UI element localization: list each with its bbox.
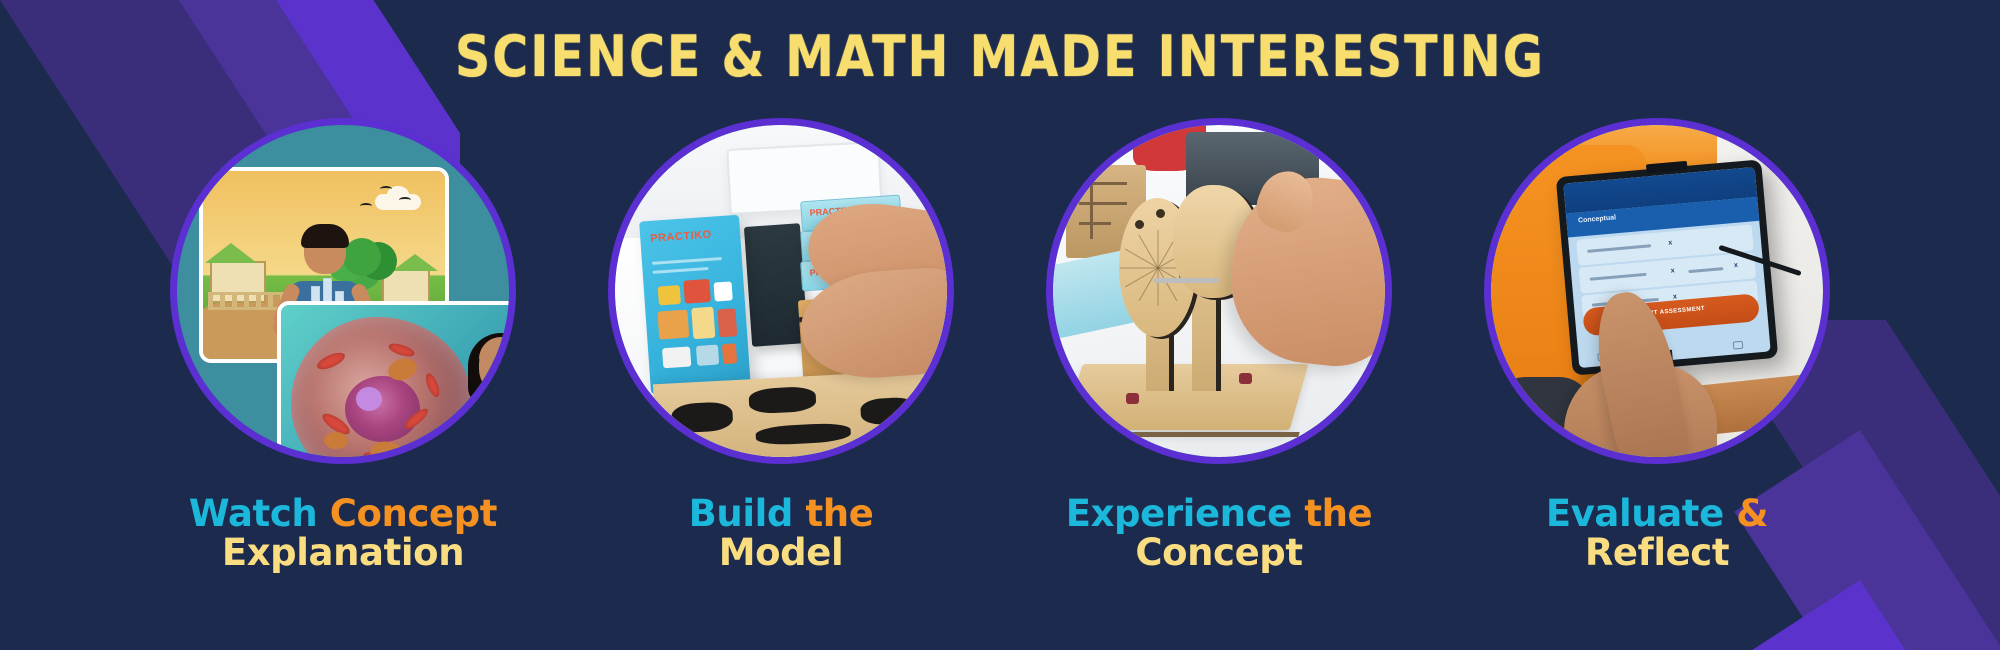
laser-cut-plywood-sheet bbox=[653, 370, 936, 457]
page-title: SCIENCE & MATH MADE INTERESTING bbox=[0, 24, 2000, 90]
step-label-1-part2: Concept bbox=[330, 492, 497, 535]
tablet-stand-dark bbox=[744, 223, 809, 346]
step-label-4-part1: Evaluate bbox=[1546, 492, 1724, 535]
app-title: Conceptual bbox=[1578, 215, 1617, 225]
step-label-2-part1: Build bbox=[689, 492, 793, 535]
metal-axle bbox=[1153, 278, 1219, 283]
step-label-3-part2: the bbox=[1304, 492, 1372, 535]
settings-nav-icon[interactable] bbox=[1733, 340, 1744, 349]
step-label-3: Experience the Concept bbox=[1066, 494, 1373, 572]
step-label-2: Build the Model bbox=[689, 494, 874, 572]
step-image-circle-2: PRACTIKO PRACTIKO PRACTIKO PRACTIKO bbox=[608, 118, 954, 464]
steps-row: Watch Concept Explanation PRACTIKO PRACT… bbox=[0, 118, 2000, 572]
step-item-evaluate-and-reflect[interactable]: Conceptual x x x bbox=[1482, 118, 1832, 572]
step-label-4: Evaluate & Reflect bbox=[1546, 494, 1768, 572]
product-box-front: PRACTIKO bbox=[639, 215, 750, 394]
step-label-1: Watch Concept Explanation bbox=[189, 494, 497, 572]
step-item-build-the-model[interactable]: PRACTIKO PRACTIKO PRACTIKO PRACTIKO bbox=[606, 118, 956, 572]
step-image-circle-3 bbox=[1046, 118, 1392, 464]
step-item-watch-concept-explanation[interactable]: Watch Concept Explanation bbox=[168, 118, 518, 572]
step-label-3-part1: Experience bbox=[1066, 492, 1292, 535]
step-label-4-part3: Reflect bbox=[1585, 531, 1729, 574]
peg-left bbox=[1126, 393, 1139, 404]
step-image-circle-4: Conceptual x x x bbox=[1484, 118, 1830, 464]
peg-right bbox=[1239, 373, 1252, 384]
step-label-1-part3: Explanation bbox=[222, 531, 464, 574]
animal-cell-illustration bbox=[291, 317, 469, 457]
step-label-3-part3: Concept bbox=[1135, 531, 1302, 574]
presenter-figure bbox=[454, 333, 509, 457]
step-image-circle-1 bbox=[170, 118, 516, 464]
step-label-4-part2: & bbox=[1736, 492, 1768, 535]
step-label-2-part2: the bbox=[805, 492, 873, 535]
step-label-2-part3: Model bbox=[719, 531, 844, 574]
stripe-band-6 bbox=[1734, 580, 2000, 650]
step-label-1-part1: Watch bbox=[189, 492, 317, 535]
step-item-experience-the-concept[interactable]: Experience the Concept bbox=[1044, 118, 1394, 572]
tablet-camera-icon bbox=[1646, 161, 1688, 174]
wooden-base-plate bbox=[1063, 364, 1308, 430]
video-thumbnail-cell-biology bbox=[277, 301, 509, 457]
tablet-screen[interactable]: Conceptual x x x bbox=[1563, 167, 1770, 368]
